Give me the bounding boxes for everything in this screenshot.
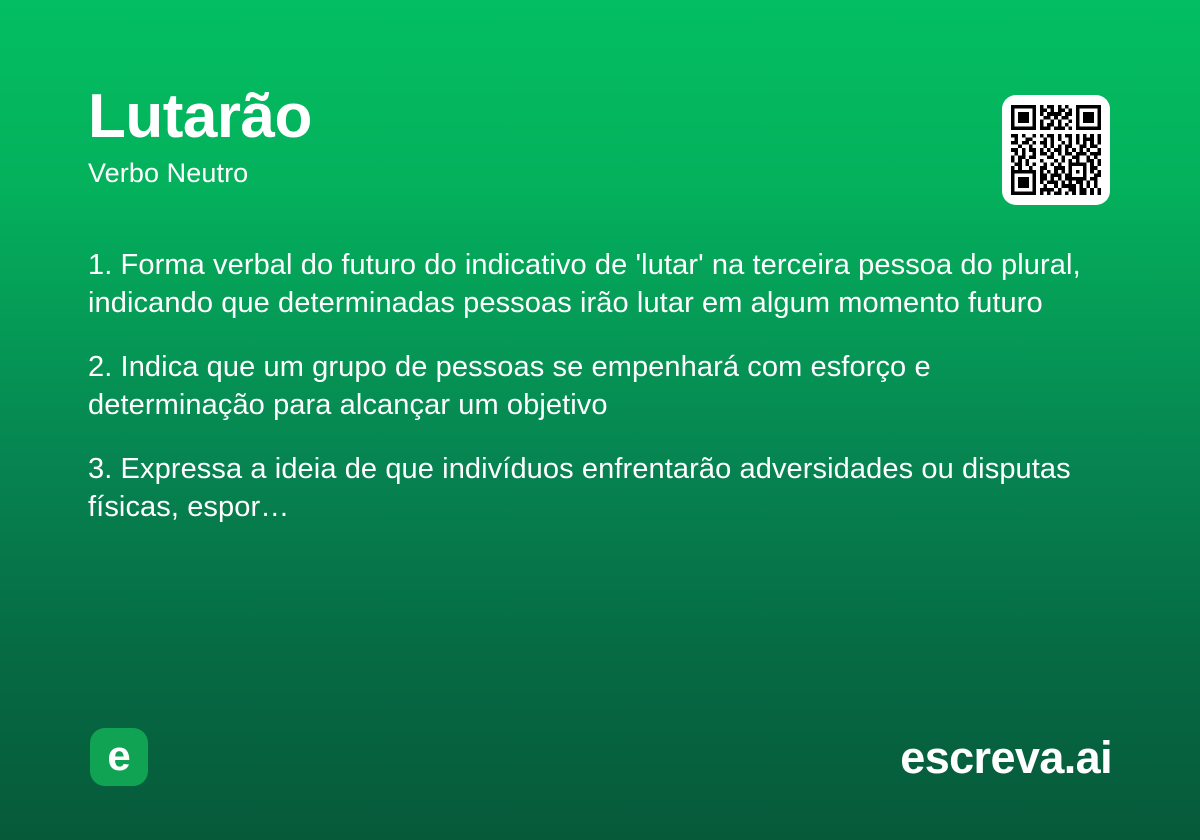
qr-code-card[interactable] [1002,95,1110,205]
card-footer: e escreva.ai [0,728,1200,788]
page-title: Lutarão [88,84,968,149]
definition-item: 1. Forma verbal do futuro do indicativo … [88,246,1103,322]
definition-item: 3. Expressa a ideia de que indivíduos en… [88,450,1103,526]
brand-logo-icon: e [90,728,148,786]
word-class-label: Verbo Neutro [88,159,968,189]
definition-item: 2. Indica que um grupo de pessoas se emp… [88,348,1103,424]
definition-list: 1. Forma verbal do futuro do indicativo … [88,246,1103,526]
qr-code-icon [1011,104,1101,196]
brand-logo-letter: e [107,735,130,777]
card-header: Lutarão Verbo Neutro [88,84,968,189]
word-definition-card: Lutarão Verbo Neutro [0,0,1200,840]
brand-name: escreva.ai [900,730,1112,786]
